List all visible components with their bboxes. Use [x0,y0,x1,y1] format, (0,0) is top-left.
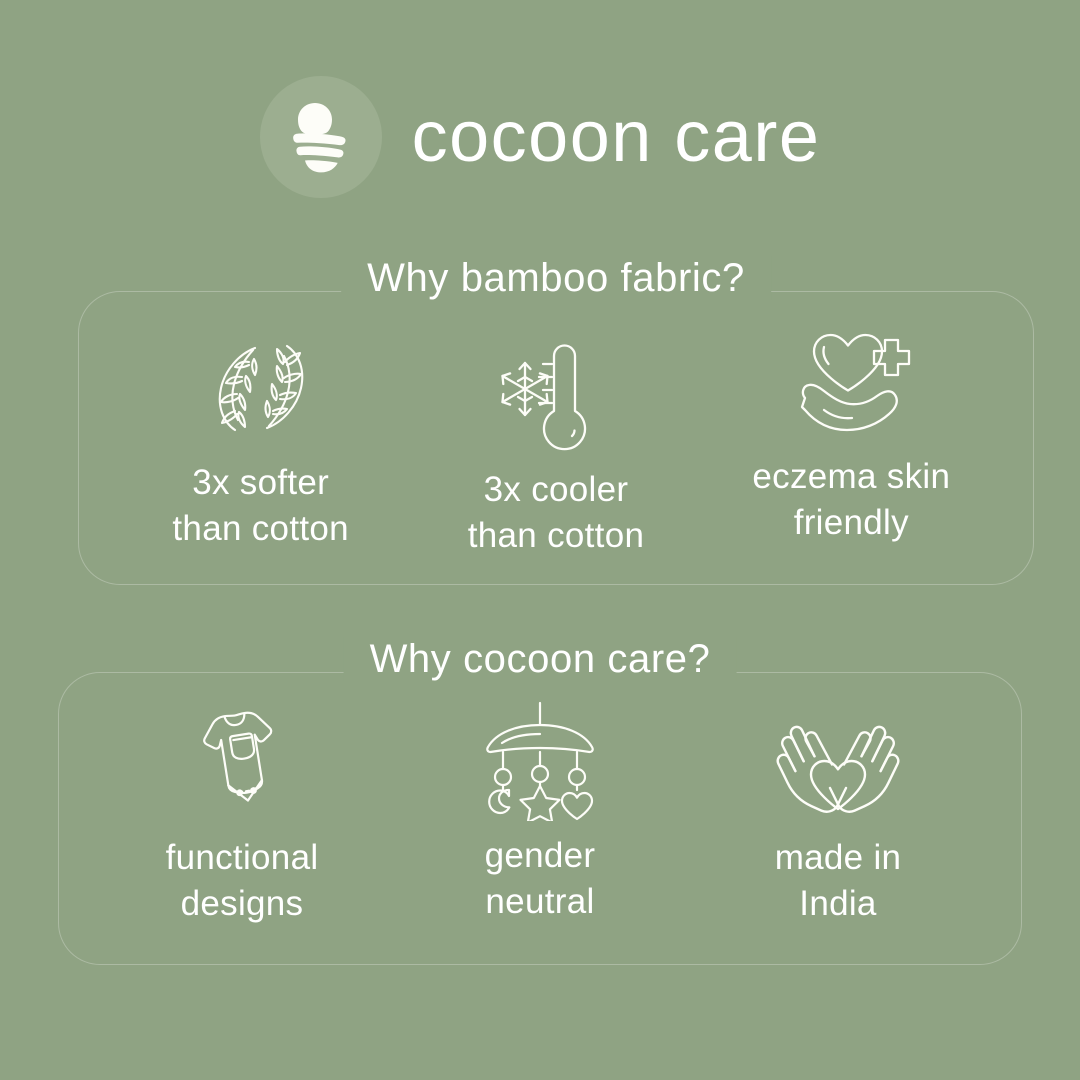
feature-eczema-skin-friendly: eczema skin friendly [704,322,999,546]
feathers-icon [201,328,321,448]
feature-3x-cooler: 3x cooler than cotton [408,335,703,559]
feature-label: 3x cooler than cotton [468,467,645,559]
card-why-bamboo-fabric: Why bamboo fabric? [78,291,1034,585]
feature-made-in-india: made in India [689,703,987,927]
cocoon-sun-waves-logo-icon [260,76,382,198]
brand-header: cocoon care [0,72,1080,202]
crib-mobile-moon-star-heart-icon [476,701,604,821]
feature-label: gender neutral [485,833,596,925]
card-why-cocoon-care: Why cocoon care? [58,672,1022,965]
feature-functional-designs: functional designs [93,703,391,927]
brand-name: cocoon care [412,101,821,173]
feature-label: 3x softer than cotton [172,460,349,552]
feature-list-cocoon: functional designs [59,673,1021,964]
feature-label: eczema skin friendly [752,454,950,546]
thermometer-snowflake-icon [497,335,615,455]
feature-list-bamboo: 3x softer than cotton [79,292,1033,584]
baby-onesie-pocket-icon [183,703,301,823]
feature-gender-neutral: gender neutral [391,701,689,925]
poster-canvas: cocoon care Why bamboo fabric? [0,0,1080,1080]
feature-3x-softer: 3x softer than cotton [113,328,408,552]
two-hands-heart-icon [774,703,902,823]
feature-label: made in India [775,835,902,927]
feature-label: functional designs [166,835,319,927]
hand-heart-medical-cross-icon [788,322,914,442]
